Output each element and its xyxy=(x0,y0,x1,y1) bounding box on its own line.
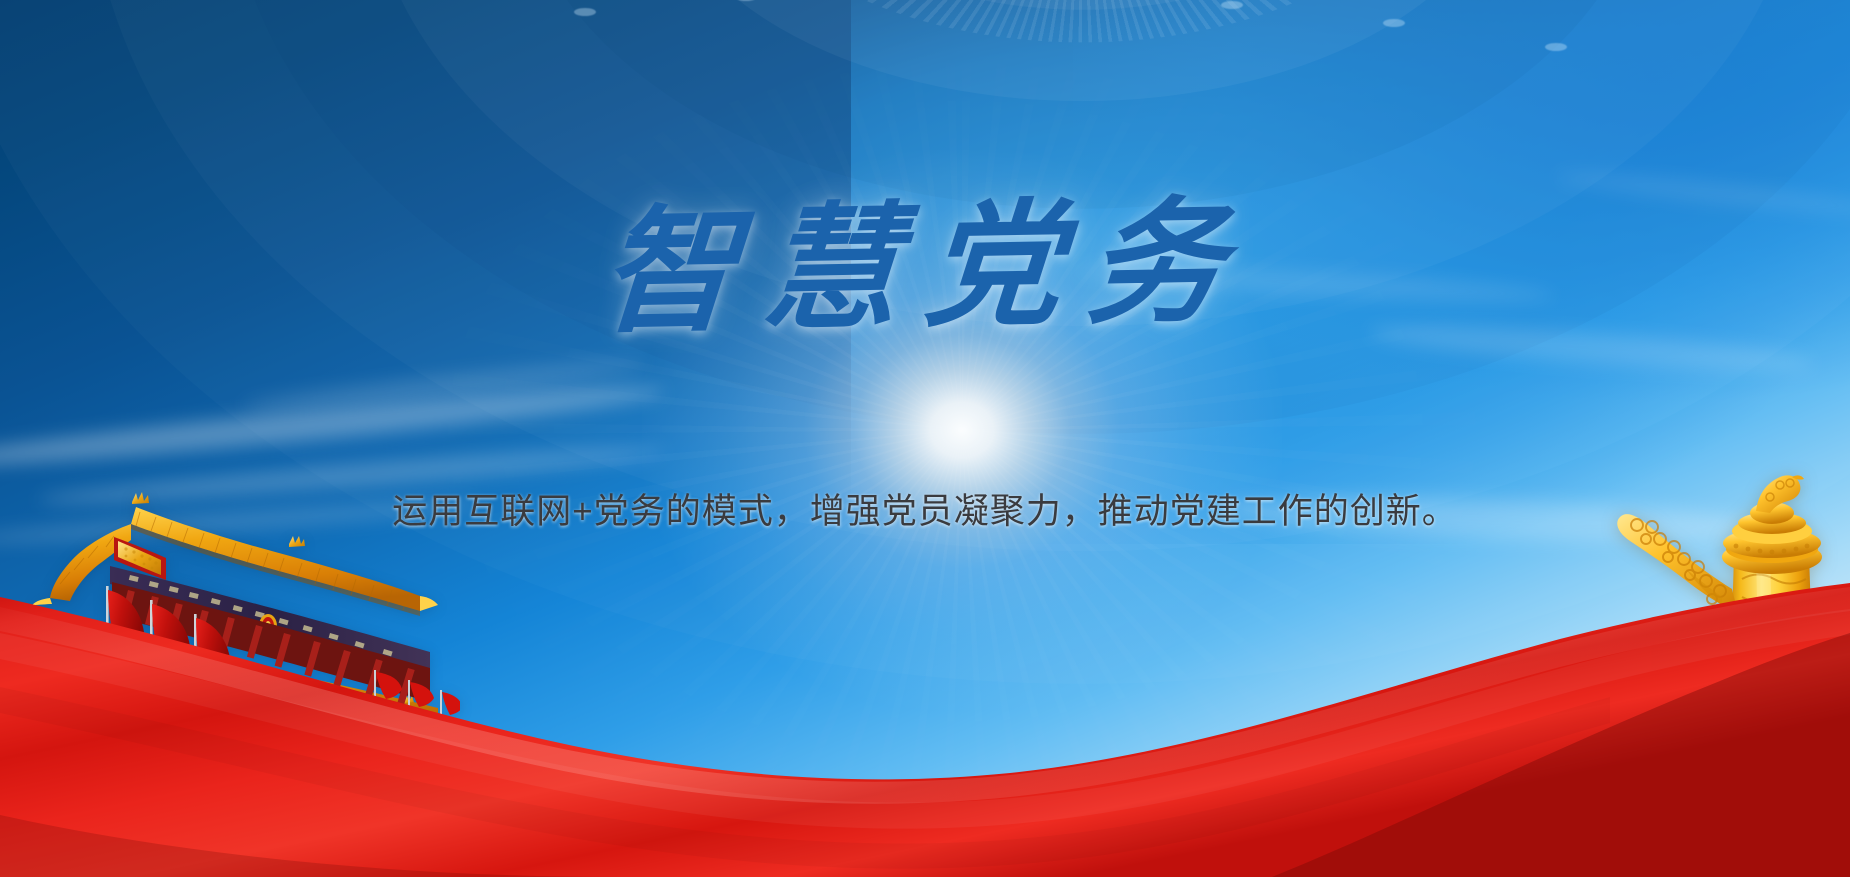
red-silk-ribbon xyxy=(0,577,1850,877)
banner-subtitle-container: 运用互联网+党务的模式，增强党员凝聚力，推动党建工作的创新。 xyxy=(0,483,1850,534)
banner-title-container: 智慧党务 xyxy=(0,196,1850,339)
page-subtitle: 运用互联网+党务的模式，增强党员凝聚力，推动党建工作的创新。 xyxy=(392,483,1457,534)
party-affairs-banner: 智慧党务 运用互联网+党务的模式，增强党员凝聚力，推动党建工作的创新。 xyxy=(0,0,1850,877)
page-title: 智慧党务 xyxy=(596,190,1255,344)
